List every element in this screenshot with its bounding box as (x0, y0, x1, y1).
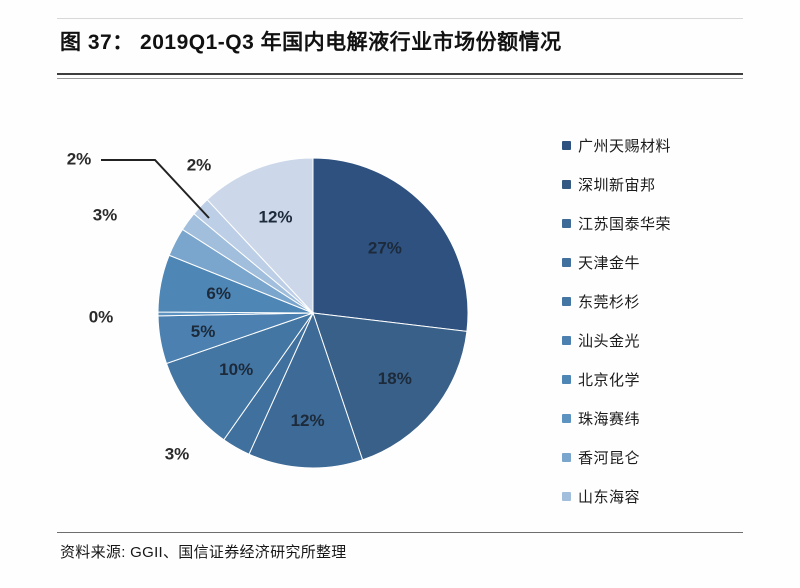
legend-swatch-icon (562, 297, 571, 306)
legend-item-label: 深圳新宙邦 (578, 174, 656, 195)
pie-slice-label: 6% (206, 284, 231, 303)
legend-swatch-icon (562, 492, 571, 501)
pie-slice-label: 5% (191, 322, 216, 341)
source-note: 资料来源: GGII、国信证券经济研究所整理 (60, 541, 347, 562)
pie-slice-label: 12% (291, 411, 325, 430)
pie-slice-label: 2% (187, 155, 212, 174)
legend-item[interactable]: 江苏国泰华荣 (562, 204, 742, 243)
legend-item-label: 广州天赐材料 (578, 135, 671, 156)
legend-item-label: 北京化学 (578, 369, 640, 390)
legend-item[interactable]: 天津金牛 (562, 243, 742, 282)
legend-item-label: 江苏国泰华荣 (578, 213, 671, 234)
page-title: 图 37： 2019Q1-Q3 年国内电解液行业市场份额情况 (60, 26, 746, 56)
title-rule-bottom (57, 73, 743, 79)
legend-item[interactable]: 香河昆仑 (562, 438, 742, 477)
pie-slice-label: 0% (89, 307, 114, 326)
pie-slice-label: 10% (219, 360, 253, 379)
pie-slice-label: 27% (368, 239, 402, 258)
pie-slice-label: 3% (93, 205, 118, 224)
pie-slice-label: 18% (378, 369, 412, 388)
pie-chart-svg: 27%18%12%3%10%5%0%6%3%2%2%12% (57, 88, 557, 508)
legend-item-label: 天津金牛 (578, 252, 640, 273)
legend-item[interactable]: 东莞杉杉 (562, 282, 742, 321)
title-rule-top (57, 18, 743, 19)
source-rule (57, 532, 743, 533)
legend-swatch-icon (562, 258, 571, 267)
legend-item[interactable]: 深圳新宙邦 (562, 165, 742, 204)
legend-item[interactable]: 北京化学 (562, 360, 742, 399)
legend-swatch-icon (562, 375, 571, 384)
chart-area: 27%18%12%3%10%5%0%6%3%2%2%12% 广州天赐材料深圳新宙… (57, 88, 743, 508)
legend-item-label: 山东海容 (578, 486, 640, 507)
pie-slice-label: 2% (67, 149, 92, 168)
figure-container: 图 37： 2019Q1-Q3 年国内电解液行业市场份额情况 27%18%12%… (0, 0, 800, 588)
pie-slice-label: 12% (258, 207, 292, 226)
legend-item-label: 珠海赛纬 (578, 408, 640, 429)
legend-item[interactable]: 珠海赛纬 (562, 399, 742, 438)
legend-swatch-icon (562, 336, 571, 345)
legend-swatch-icon (562, 219, 571, 228)
legend-swatch-icon (562, 141, 571, 150)
pie-slice-label: 3% (165, 444, 190, 463)
legend-item[interactable]: 汕头金光 (562, 321, 742, 360)
legend-item-label: 香河昆仑 (578, 447, 640, 468)
legend-item[interactable]: 广州天赐材料 (562, 126, 742, 165)
legend-swatch-icon (562, 453, 571, 462)
legend-item-label: 汕头金光 (578, 330, 640, 351)
legend-swatch-icon (562, 180, 571, 189)
legend-swatch-icon (562, 414, 571, 423)
pie-chart: 27%18%12%3%10%5%0%6%3%2%2%12% (57, 88, 557, 508)
legend-item[interactable]: 山东海容 (562, 477, 742, 516)
legend: 广州天赐材料深圳新宙邦江苏国泰华荣天津金牛东莞杉杉汕头金光北京化学珠海赛纬香河昆… (562, 126, 742, 516)
legend-item-label: 东莞杉杉 (578, 291, 640, 312)
